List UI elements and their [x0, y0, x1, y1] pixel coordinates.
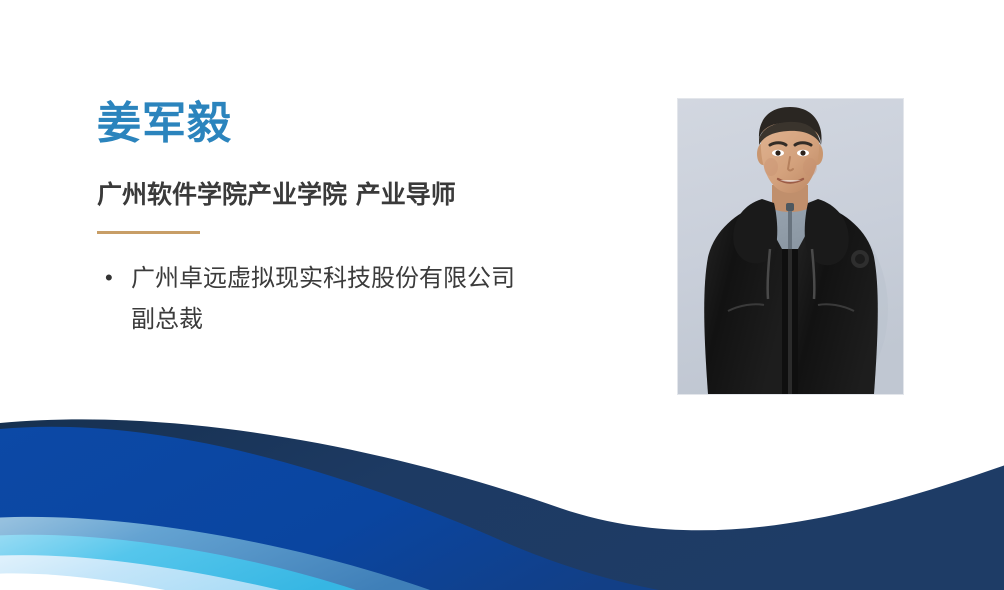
wave-steel-blue	[0, 517, 470, 590]
wave-royal-blue	[0, 427, 760, 590]
wave-white-wedge	[0, 573, 215, 590]
speaker-info-block: 姜军毅 广州软件学院产业学院 产业导师 • 广州卓远虚拟现实科技股份有限公司 副…	[97, 96, 657, 340]
list-item-text: 广州卓远虚拟现实科技股份有限公司 副总裁	[131, 258, 515, 340]
wave-sky-blue	[0, 535, 385, 590]
slide-canvas: 姜军毅 广州软件学院产业学院 产业导师 • 广州卓远虚拟现实科技股份有限公司 副…	[0, 0, 1004, 590]
page-title: 姜军毅	[97, 96, 657, 152]
portrait-illustration	[678, 99, 903, 394]
bullet-dot-icon: •	[97, 258, 131, 298]
wave-navy	[0, 419, 1004, 590]
credentials-list: • 广州卓远虚拟现实科技股份有限公司 副总裁	[97, 258, 657, 340]
list-item-line-1: 广州卓远虚拟现实科技股份有限公司	[131, 264, 515, 292]
speaker-affiliation: 广州软件学院产业学院 产业导师	[97, 178, 657, 212]
list-item: • 广州卓远虚拟现实科技股份有限公司 副总裁	[97, 258, 657, 340]
avatar	[678, 99, 903, 394]
divider	[97, 231, 200, 234]
wave-pale-blue	[0, 555, 320, 590]
list-item-line-2: 副总裁	[131, 305, 203, 333]
